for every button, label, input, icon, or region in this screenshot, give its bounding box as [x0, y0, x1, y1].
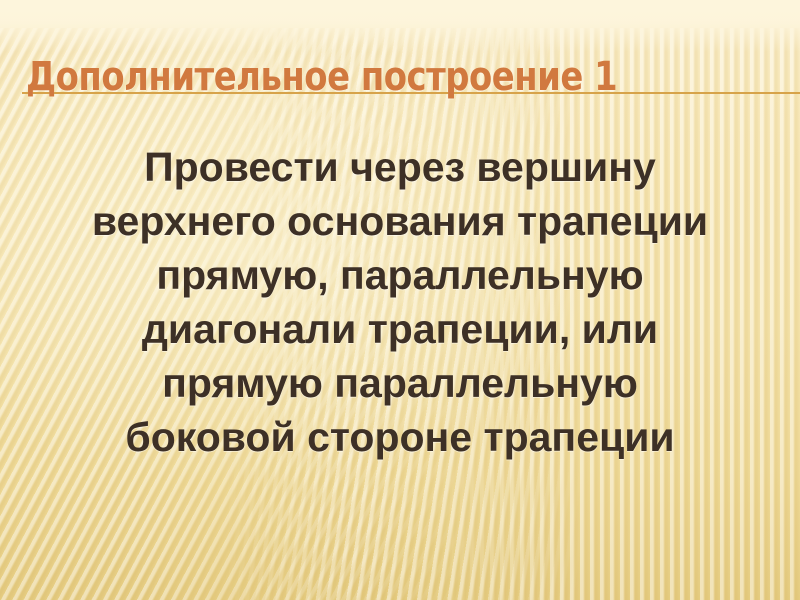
slide-canvas: Дополнительное построение 1 Провести чер… — [0, 0, 800, 600]
body-line: прямую, параллельную — [0, 248, 800, 302]
body-line: верхнего основания трапеции — [0, 194, 800, 248]
slide-title: Дополнительное построение 1 — [26, 52, 617, 102]
body-line: боковой стороне трапеции — [0, 410, 800, 464]
body-line: прямую параллельную — [0, 356, 800, 410]
body-line: диагонали трапеции, или — [0, 302, 800, 356]
slide-body-block: Провести через вершину верхнего основани… — [0, 140, 800, 464]
slide-title-block: Дополнительное построение 1 — [0, 52, 800, 108]
body-line: Провести через вершину — [0, 140, 800, 194]
